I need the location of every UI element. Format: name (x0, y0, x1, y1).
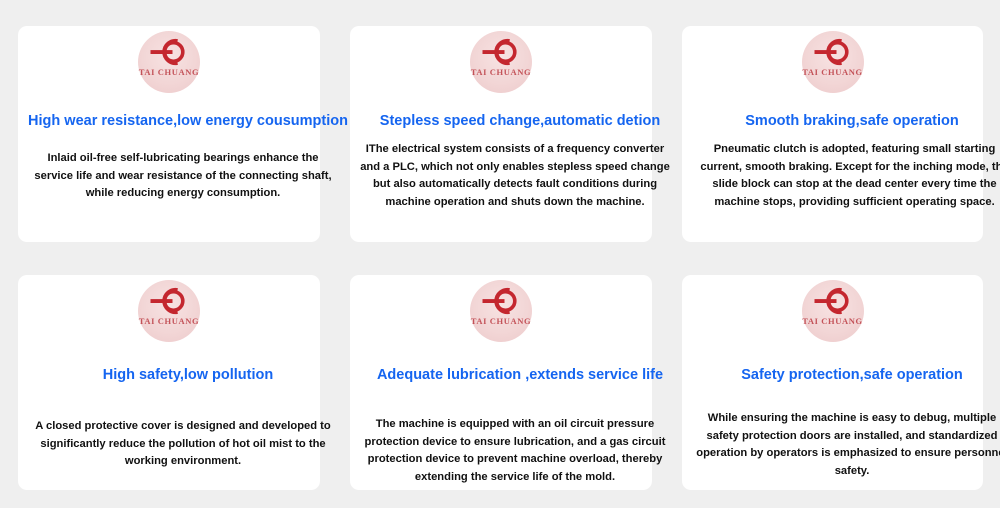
feature-card[interactable]: TAI CHUANG High safety,low pollution A c… (18, 275, 320, 490)
feature-title: Smooth braking,safe operation (682, 112, 1000, 130)
tai-chuang-emblem-icon (479, 37, 523, 67)
feature-card[interactable]: TAI CHUANG High wear resistance,low ener… (18, 26, 320, 242)
feature-description: IThe electrical system consists of a fre… (350, 141, 680, 211)
feature-title: Adequate lubrication ,extends service li… (350, 366, 690, 384)
feature-card[interactable]: TAI CHUANG Safety protection,safe operat… (682, 275, 983, 490)
brand-logo: TAI CHUANG (470, 31, 532, 93)
tai-chuang-emblem-icon (147, 286, 191, 316)
feature-card[interactable]: TAI CHUANG Adequate lubrication ,extends… (350, 275, 652, 490)
feature-card[interactable]: TAI CHUANG Smooth braking,safe operation… (682, 26, 983, 242)
feature-title: High wear resistance,low energy cousumpt… (18, 112, 358, 130)
brand-logo: TAI CHUANG (138, 31, 200, 93)
feature-card[interactable]: TAI CHUANG Stepless speed change,automat… (350, 26, 652, 242)
logo-wordmark: TAI CHUANG (802, 67, 864, 77)
tai-chuang-emblem-icon (811, 37, 855, 67)
feature-description: The machine is equipped with an oil circ… (350, 416, 680, 486)
logo-wordmark: TAI CHUANG (802, 316, 864, 326)
feature-description: While ensuring the machine is easy to de… (682, 410, 1000, 480)
brand-logo: TAI CHUANG (138, 280, 200, 342)
feature-title: Safety protection,safe operation (682, 366, 1000, 384)
tai-chuang-emblem-icon (811, 286, 855, 316)
feature-description: Pneumatic clutch is adopted, featuring s… (682, 141, 1000, 211)
feature-title: High safety,low pollution (18, 366, 358, 384)
feature-title: Stepless speed change,automatic detion (350, 112, 690, 130)
brand-logo: TAI CHUANG (802, 31, 864, 93)
feature-description: Inlaid oil-free self-lubricating bearing… (18, 150, 348, 203)
brand-logo: TAI CHUANG (470, 280, 532, 342)
tai-chuang-emblem-icon (147, 37, 191, 67)
tai-chuang-emblem-icon (479, 286, 523, 316)
logo-wordmark: TAI CHUANG (138, 316, 200, 326)
logo-wordmark: TAI CHUANG (470, 316, 532, 326)
brand-logo: TAI CHUANG (802, 280, 864, 342)
logo-wordmark: TAI CHUANG (138, 67, 200, 77)
feature-description: A closed protective cover is designed an… (18, 418, 348, 471)
feature-card-grid: TAI CHUANG High wear resistance,low ener… (0, 0, 1000, 508)
logo-wordmark: TAI CHUANG (470, 67, 532, 77)
